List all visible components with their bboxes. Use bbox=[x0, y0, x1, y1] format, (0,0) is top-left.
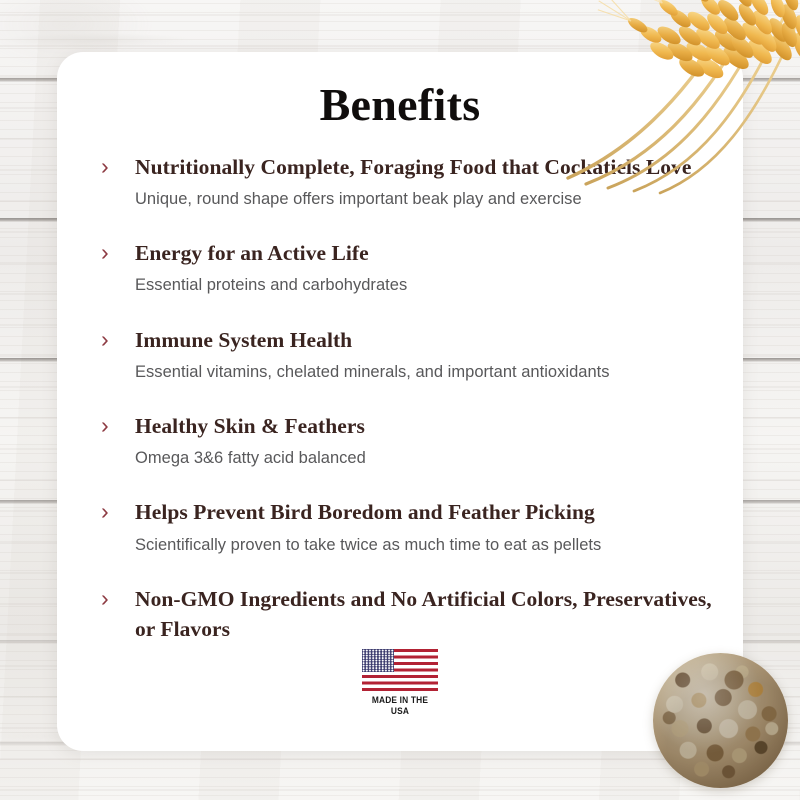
list-item: › Non-GMO Ingredients and No Artificial … bbox=[97, 584, 725, 644]
flag-canton bbox=[362, 649, 394, 672]
list-item: › Immune System Health Essential vitamin… bbox=[97, 325, 725, 383]
list-item: › Energy for an Active Life Essential pr… bbox=[97, 238, 725, 296]
flag-stars bbox=[362, 649, 394, 672]
bird-seed-ball-image bbox=[653, 653, 788, 788]
benefit-heading: Immune System Health bbox=[135, 325, 725, 355]
list-item: › Nutritionally Complete, Foraging Food … bbox=[97, 152, 725, 210]
benefit-subtext: Essential proteins and carbohydrates bbox=[135, 274, 725, 296]
benefit-heading: Energy for an Active Life bbox=[135, 238, 725, 268]
benefit-heading: Healthy Skin & Feathers bbox=[135, 411, 725, 441]
benefit-subtext: Essential vitamins, chelated minerals, a… bbox=[135, 361, 725, 383]
usa-flag-icon bbox=[362, 649, 438, 691]
made-in-usa-badge: MADE IN THE USA bbox=[357, 649, 443, 717]
benefit-heading: Non-GMO Ingredients and No Artificial Co… bbox=[135, 584, 725, 644]
made-in-usa-label: MADE IN THE USA bbox=[362, 695, 438, 717]
chevron-right-icon: › bbox=[101, 239, 109, 265]
chevron-right-icon: › bbox=[101, 498, 109, 524]
benefits-card: Benefits › Nutritionally Complete, Forag… bbox=[57, 52, 743, 751]
promo-image: Benefits › Nutritionally Complete, Forag… bbox=[0, 0, 800, 800]
benefit-heading: Helps Prevent Bird Boredom and Feather P… bbox=[135, 497, 725, 527]
chevron-right-icon: › bbox=[101, 326, 109, 352]
benefit-subtext: Unique, round shape offers important bea… bbox=[135, 188, 725, 210]
benefit-subtext: Omega 3&6 fatty acid balanced bbox=[135, 447, 725, 469]
list-item: › Healthy Skin & Feathers Omega 3&6 fatt… bbox=[97, 411, 725, 469]
list-item: › Helps Prevent Bird Boredom and Feather… bbox=[97, 497, 725, 555]
benefit-subtext: Scientifically proven to take twice as m… bbox=[135, 534, 725, 556]
chevron-right-icon: › bbox=[101, 153, 109, 179]
chevron-right-icon: › bbox=[101, 585, 109, 611]
benefits-list: › Nutritionally Complete, Foraging Food … bbox=[97, 152, 725, 644]
benefit-heading: Nutritionally Complete, Foraging Food th… bbox=[135, 152, 725, 182]
chevron-right-icon: › bbox=[101, 412, 109, 438]
page-title: Benefits bbox=[57, 82, 743, 128]
seed-ball-shading bbox=[653, 653, 788, 788]
